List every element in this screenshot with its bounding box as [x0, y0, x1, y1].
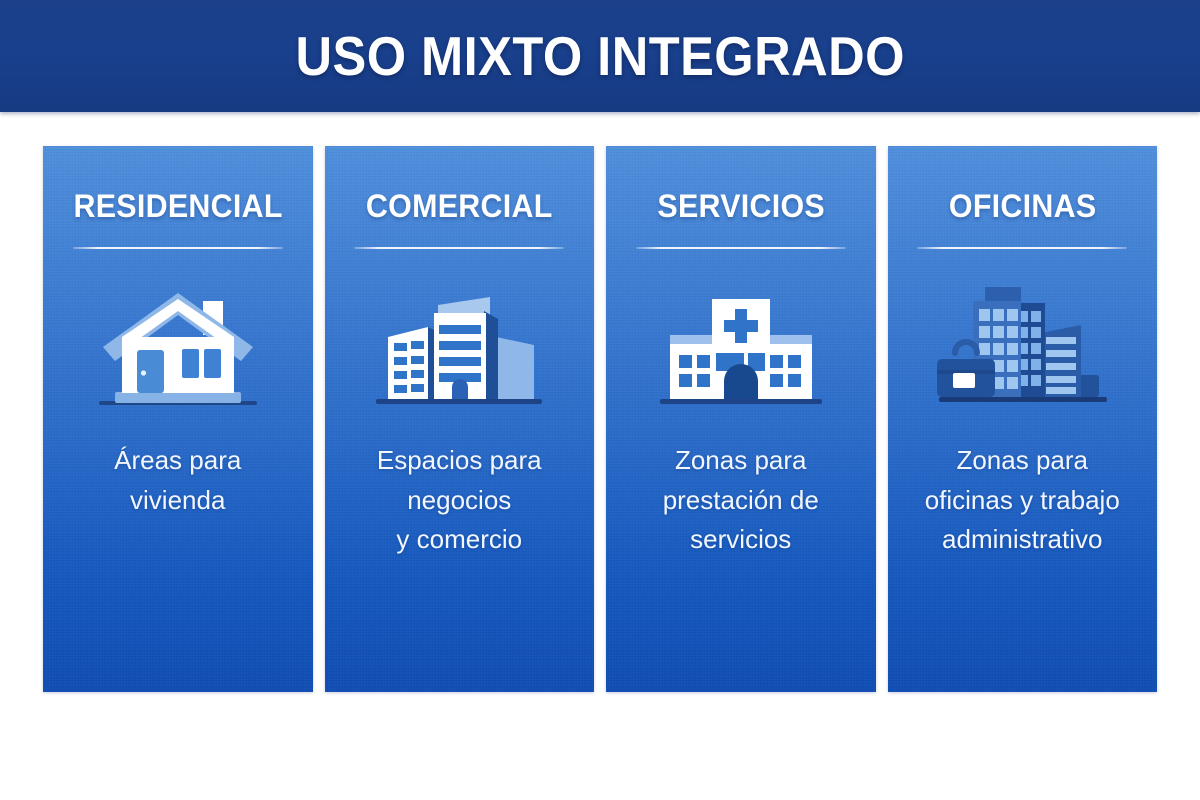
desc-line: Espacios para: [338, 441, 581, 481]
desc-line: y comercio: [338, 520, 581, 560]
card-divider: [354, 247, 564, 249]
card-servicios[interactable]: SERVICIOS: [606, 146, 876, 692]
header-band: USO MIXTO INTEGRADO: [0, 0, 1200, 112]
card-title-residencial: RESIDENCIAL: [73, 188, 282, 225]
card-description-oficinas: Zonas para oficinas y trabajo administra…: [901, 441, 1144, 560]
office-towers-briefcase-icon: [927, 275, 1117, 415]
card-divider: [917, 247, 1127, 249]
desc-line: Zonas para: [619, 441, 862, 481]
card-description-servicios: Zonas para prestación de servicios: [619, 441, 862, 560]
card-title-oficinas: OFICINAS: [948, 188, 1096, 225]
card-comercial[interactable]: COMERCIAL: [325, 146, 595, 692]
desc-line: prestación de: [619, 481, 862, 521]
card-title-servicios: SERVICIOS: [657, 188, 825, 225]
card-residencial[interactable]: RESIDENCIAL: [43, 146, 313, 692]
hospital-icon: [646, 275, 836, 415]
card-oficinas[interactable]: OFICINAS: [888, 146, 1158, 692]
desc-line: negocios: [338, 481, 581, 521]
desc-line: Áreas para: [56, 441, 299, 481]
commercial-buildings-icon: [364, 275, 554, 415]
desc-line: Zonas para: [901, 441, 1144, 481]
desc-line: administrativo: [901, 520, 1144, 560]
card-description-residencial: Áreas para vivienda: [56, 441, 299, 520]
house-icon: [83, 275, 273, 415]
card-title-comercial: COMERCIAL: [366, 188, 553, 225]
card-description-comercial: Espacios para negocios y comercio: [338, 441, 581, 560]
desc-line: oficinas y trabajo: [901, 481, 1144, 521]
page-title: USO MIXTO INTEGRADO: [295, 24, 904, 88]
card-divider: [636, 247, 846, 249]
desc-line: vivienda: [56, 481, 299, 521]
desc-line: servicios: [619, 520, 862, 560]
category-cards-row: RESIDENCIAL: [43, 146, 1157, 692]
card-divider: [73, 247, 283, 249]
